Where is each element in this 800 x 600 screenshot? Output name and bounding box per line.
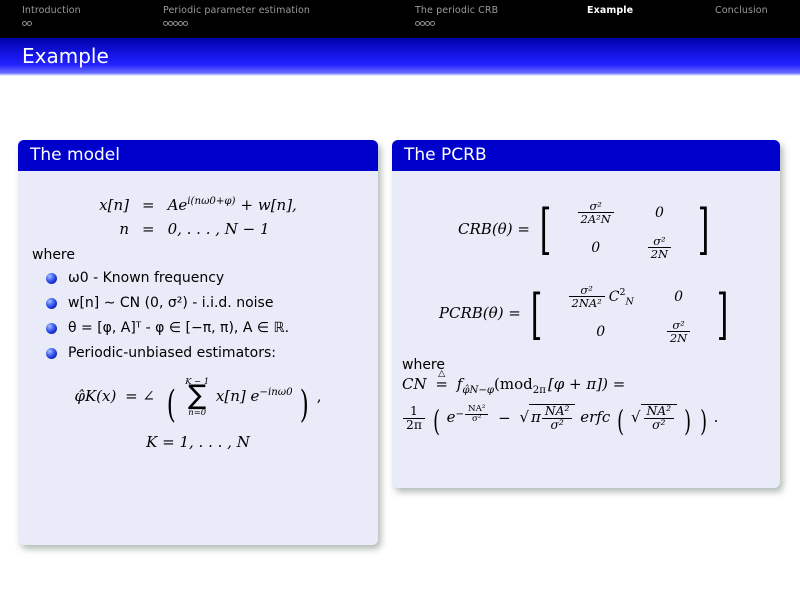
pcrb-left-bracket: [ [530,299,542,330]
cn-mod-subscript: 2π [533,385,546,396]
block-body-the-pcrb: CRB(θ) = [ σ² 2A²N 0 0 [392,171,780,442]
list-item-periodic-unbiased-estimators: Periodic-unbiased estimators: [46,344,368,363]
estimator-left-paren: ( [167,393,176,416]
sigma-icon: ∑ [185,385,209,408]
nav-section-introduction[interactable]: Introduction [22,5,81,30]
fraction: σ² 2N [667,319,690,344]
model-eq-rhs-tail: + w[n], [241,196,297,214]
sqrt-icon: √πNA²σ² [519,404,575,432]
fraction: NA²σ² [644,405,675,432]
nav-section-label: Example [587,5,633,17]
model-eq2-rhs: 0, . . . , N − 1 [164,217,301,241]
fraction-denominator: 2N [667,332,690,344]
formula-minus: − [498,409,511,427]
fraction-denominator: 2A²N [578,213,614,225]
estimator-lhs: φ̂K(x) [74,387,116,405]
crb-matrix: σ² 2A²N 0 0 σ² 2N [561,195,689,265]
nav-section-dots[interactable] [415,18,498,30]
summation-operator: K − 1 ∑ n=0 [185,377,209,417]
nav-slide-dot[interactable] [27,21,32,26]
fraction-denominator: 2N [648,248,671,260]
fraction: NA²σ² [465,405,488,424]
model-bullet-list: ω0 - Known frequency w[n] ∼ CN (0, σ²) -… [28,269,368,363]
estimator-trailing-comma: , [317,387,322,405]
fraction: σ² 2N [648,235,671,260]
nav-section-dots[interactable] [163,18,310,30]
block-title-the-pcrb: The PCRB [392,140,780,171]
block-the-model: The model x[n] = Aei(nω0+φ)+ w[n], n = 0… [18,140,378,545]
fraction: NA²σ² [542,405,573,432]
model-eq2-relation: = [133,217,164,241]
block-title-the-model: The model [18,140,378,171]
model-equation-row-1: x[n] = Aei(nω0+φ)+ w[n], [95,193,301,217]
list-item-iid-noise: w[n] ∼ CN (0, σ²) - i.i.d. noise [46,294,368,313]
model-eq-rhs: Aei(nω0+φ)+ w[n], [164,193,301,217]
fraction: σ² 2A²N [578,200,614,225]
fraction-denominator: σ² [542,419,573,432]
model-equation: x[n] = Aei(nω0+φ)+ w[n], n = 0, . . . , … [95,193,301,241]
bullet-icon [46,348,57,359]
crb-lhs: CRB(θ) = [458,220,530,238]
crb-right-bracket: ] [698,214,710,245]
fraction: σ² 2NA² [569,284,605,309]
model-eq-rhs-base: Ae [168,196,188,214]
nav-slide-dot[interactable] [183,21,188,26]
pcrb-right-bracket: ] [717,299,729,330]
estimator-summand: x[n] e [216,387,259,405]
model-eq2-lhs: n [95,217,133,241]
triangleq-icon: △ = [435,375,448,393]
model-equation-row-2: n = 0, . . . , N − 1 [95,217,301,241]
inner-sqrt-radicand: NA²σ² [641,404,678,432]
crb-entry-12: 0 [631,195,688,230]
bullet-icon [46,298,57,309]
erfc-left-paren: ( [617,413,624,430]
page-title: Example [22,44,109,68]
block-the-pcrb: The PCRB CRB(θ) = [ σ² 2A²N 0 [392,140,780,488]
cn-formula-line: 1 2π ( e−NA²σ² − √πNA²σ² erfc ( √NA²σ² )… [402,404,770,432]
pi-symbol: π [531,409,541,427]
inner-sqrt-icon: √NA²σ² [631,404,677,432]
nav-section-label: Conclusion [715,5,768,17]
exponential-exponent: −NA²σ² [455,409,489,420]
list-item-known-frequency: ω0 - Known frequency [46,269,368,288]
pcrb-entry-21: 0 [552,314,650,349]
nav-slide-dot[interactable] [430,21,435,26]
fraction-denominator: 2NA² [569,297,605,309]
model-eq-rhs-exponent: i(nω0+φ) [187,196,235,207]
pcrb-equation: PCRB(θ) = [ σ² 2NA² C2N 0 0 [402,279,770,349]
fraction-numerator: NA² [542,405,573,419]
nav-section-label: The periodic CRB [415,5,498,17]
nav-section-label: Periodic parameter estimation [163,5,310,17]
cn-mod-text: (mod [494,375,533,393]
nav-section-periodic-parameter-estimation[interactable]: Periodic parameter estimation [163,5,310,30]
crb-matrix-row: σ² 2A²N 0 [561,195,689,230]
formula-right-paren: ) [700,413,707,430]
pcrb-cn-factor: C [609,289,620,305]
block-body-the-model: x[n] = Aei(nω0+φ)+ w[n], n = 0, . . . , … [18,171,378,461]
nav-section-dots[interactable] [22,18,81,30]
sqrt-radicand: πNA²σ² [529,404,575,432]
pcrb-entry-11: σ² 2NA² C2N [552,279,650,314]
erfc-right-paren: ) [684,413,691,430]
estimator-index-range: K = 1, . . . , N [28,433,368,451]
cn-mod-argument: [φ + π]) = [548,375,625,393]
bullet-icon [46,273,57,284]
model-where-label: where [32,247,368,263]
list-item-label: θ = [φ, A]ᵀ - φ ∈ [−π, π), A ∈ ℝ. [68,320,289,336]
erfc-function: erfc [580,409,610,427]
pcrb-matrix-row: 0 σ² 2N [552,314,708,349]
list-item-label: ω0 - Known frequency [68,270,224,286]
summation-lower-limit: n=0 [185,408,209,416]
fraction-numerator: NA² [644,405,675,419]
crb-entry-21: 0 [561,230,631,265]
estimator-right-paren: ) [300,393,309,416]
nav-section-label: Introduction [22,5,81,17]
crb-entry-22: σ² 2N [631,230,688,265]
crb-matrix-row: 0 σ² 2N [561,230,689,265]
cn-lhs: CN [402,375,427,393]
prefactor-fraction: 1 2π [403,405,425,432]
crb-equation: CRB(θ) = [ σ² 2A²N 0 0 [402,195,770,265]
pcrb-matrix-row: σ² 2NA² C2N 0 [552,279,708,314]
nav-section-example[interactable]: Example [587,5,633,17]
cn-density-subscript: φ̂N−φ [462,385,494,396]
model-estimator-equation: φ̂K(x) = ∠ ( K − 1 ∑ n=0 x[n] e−inω0 ) , [28,377,368,417]
nav-section-conclusion[interactable]: Conclusion [715,5,768,17]
pcrb-entry-12: 0 [650,279,707,314]
estimator-summand-exponent: −inω0 [259,387,292,398]
crb-entry-11: σ² 2A²N [561,195,631,230]
nav-section-the-periodic-crb[interactable]: The periodic CRB [415,5,498,30]
cn-definition-line: CN △ = fφ̂N−φ(mod2π[φ + π]) = [402,375,770,396]
triangle-glyph: △ [435,368,448,379]
formula-left-paren: ( [433,413,440,430]
model-eq-lhs: x[n] [95,193,133,217]
fraction-numerator: 1 [403,405,425,419]
formula-period: . [714,409,719,427]
list-item-label: Periodic-unbiased estimators: [68,345,276,361]
fraction-denominator: σ² [644,419,675,432]
model-eq-relation: = [133,193,164,217]
fraction-denominator: 2π [403,419,425,432]
pcrb-entry-22: σ² 2N [650,314,707,349]
pcrb-where-label: where [402,357,770,373]
list-item-label: w[n] ∼ CN (0, σ²) - i.i.d. noise [68,295,273,311]
estimator-relation: = ∠ [125,387,155,405]
pcrb-cn-subscript: N [626,297,634,308]
list-item-parameter-vector: θ = [φ, A]ᵀ - φ ∈ [−π, π), A ∈ ℝ. [46,319,368,338]
frame-title-bar: Example [0,38,800,76]
fraction-denominator: σ² [465,415,488,424]
pcrb-lhs: PCRB(θ) = [439,304,521,322]
crb-left-bracket: [ [539,214,551,245]
pcrb-matrix: σ² 2NA² C2N 0 0 σ² 2N [552,279,708,349]
bullet-icon [46,323,57,334]
navigation-bar: Introduction Periodic parameter estimati… [0,0,800,38]
slide: Introduction Periodic parameter estimati… [0,0,800,600]
